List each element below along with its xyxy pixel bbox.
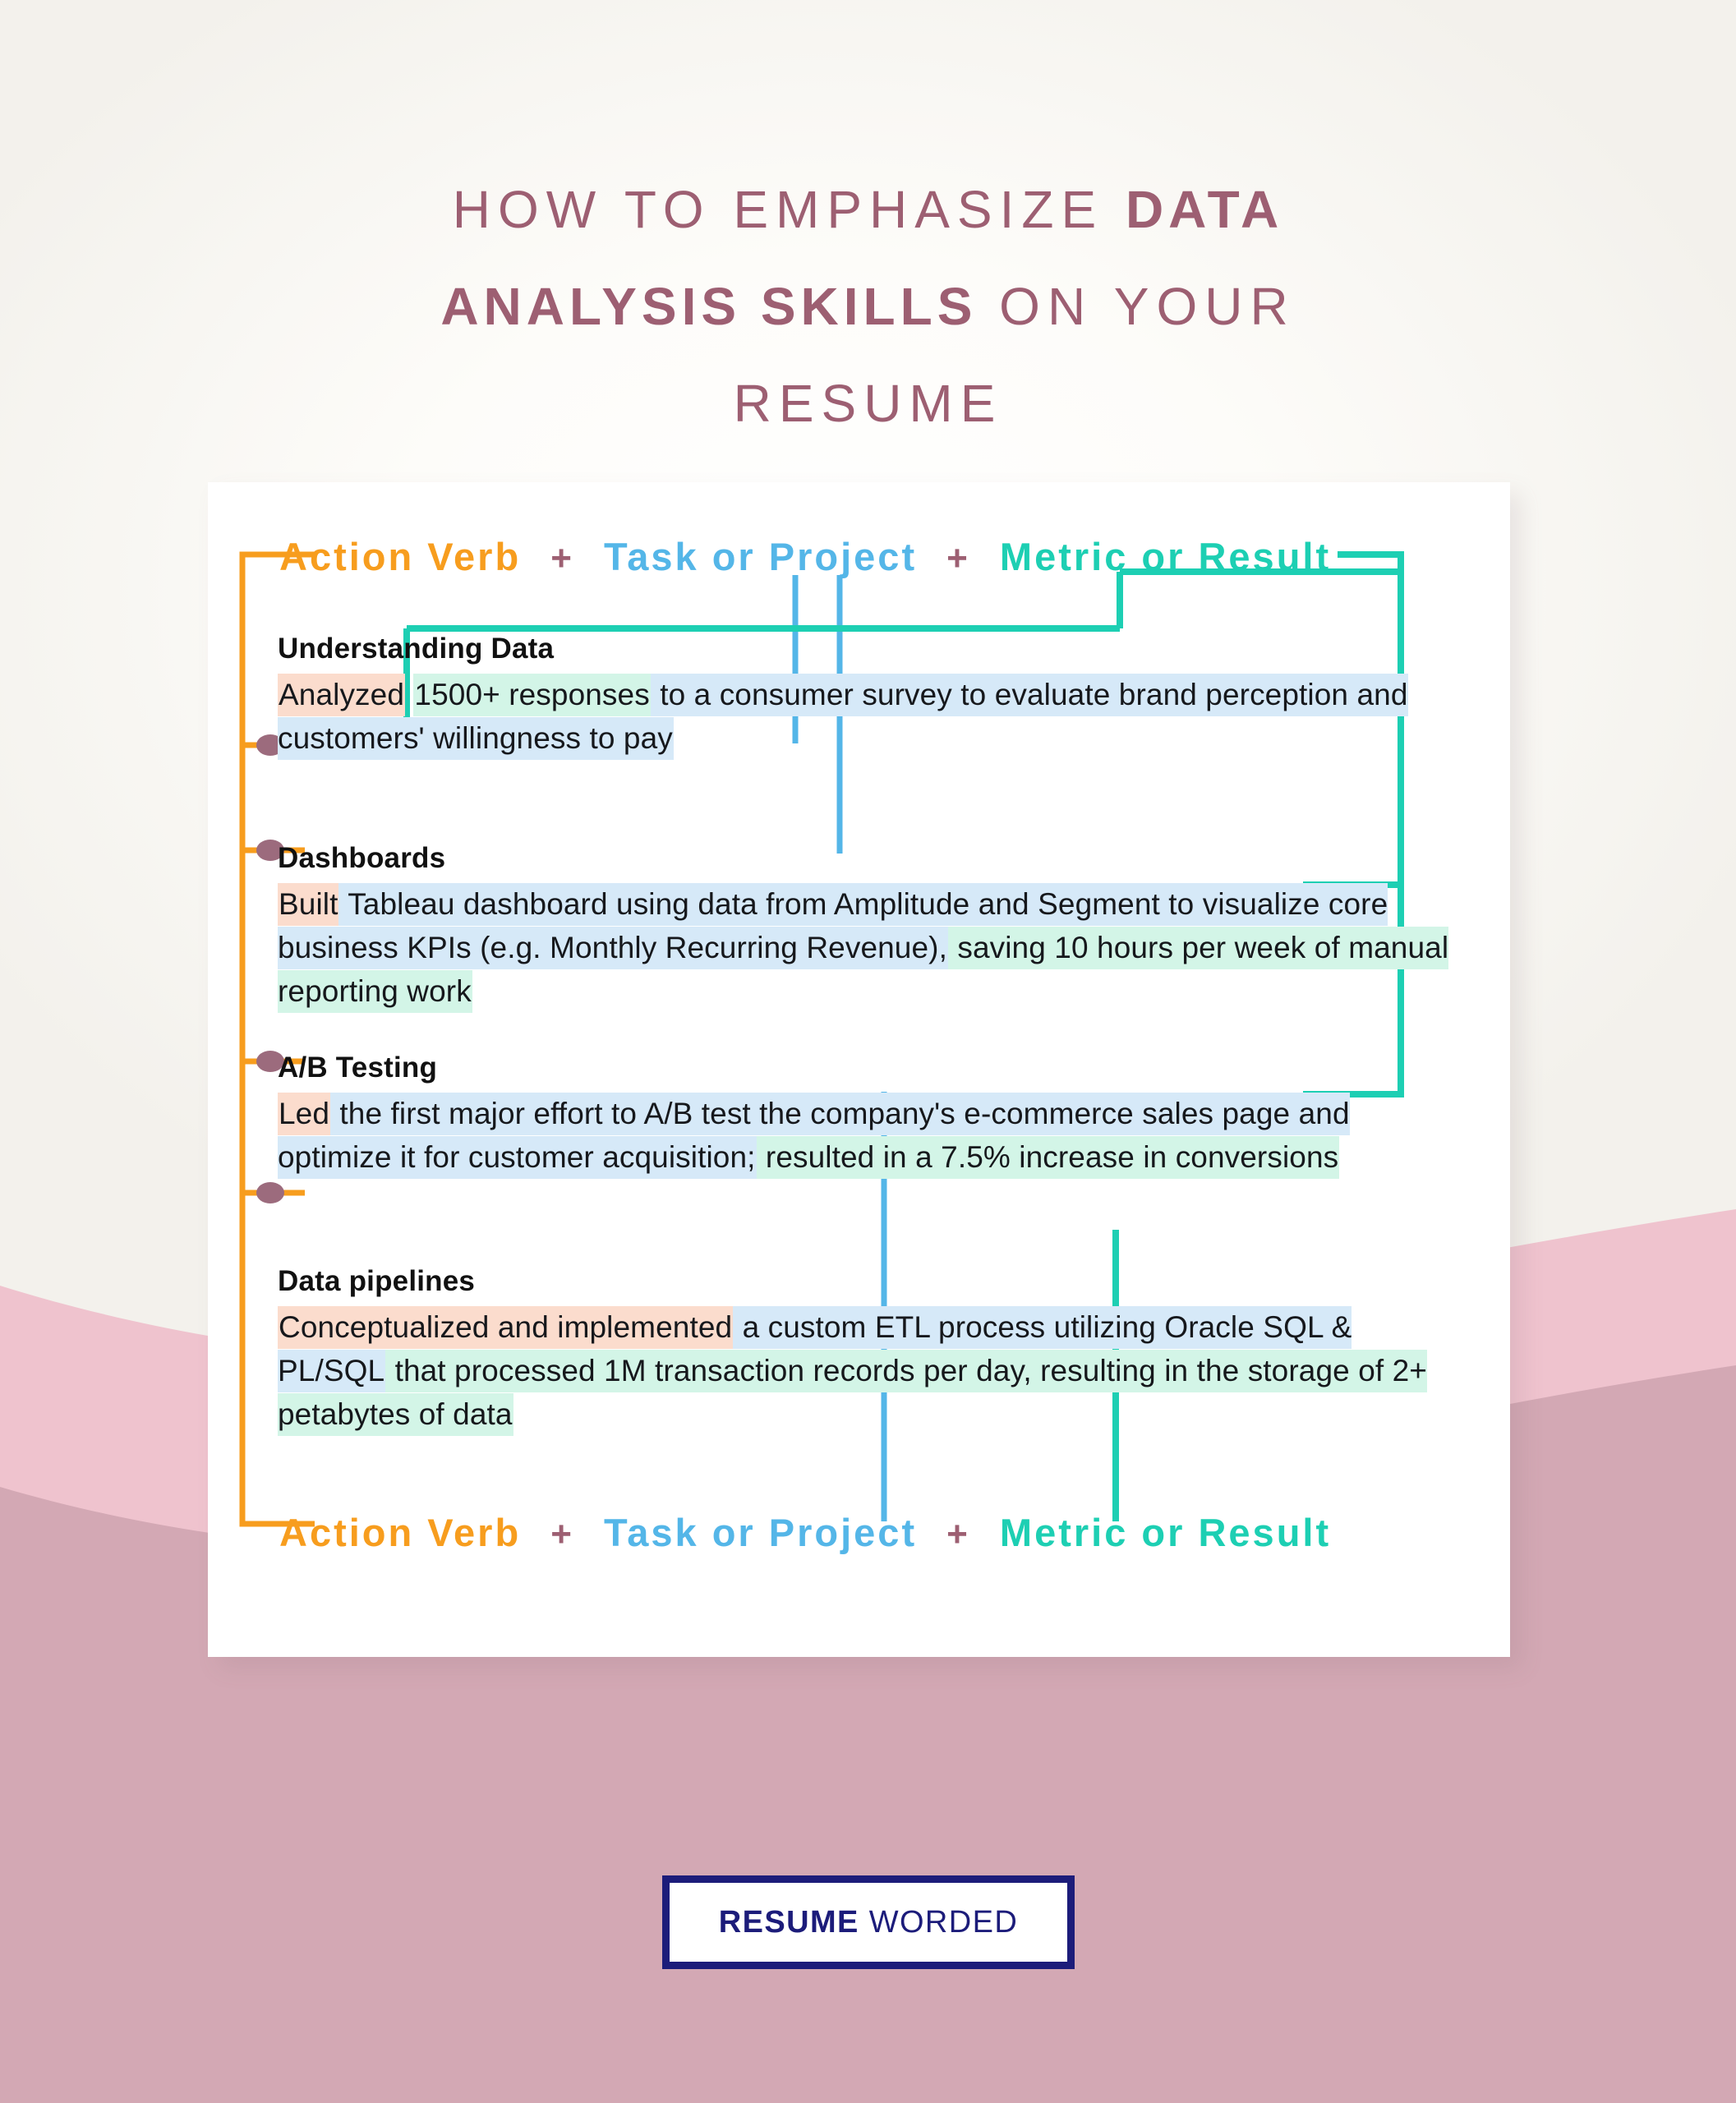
segment-verb: Led: [278, 1093, 330, 1135]
bullet-body: Analyzed 1500+ responses to a consumer s…: [278, 673, 1453, 760]
page-title-line-1-plain: HOW TO EMPHASIZE: [453, 180, 1126, 239]
bullet-block-dashboards: Dashboards Built Tableau dashboard using…: [278, 842, 1453, 1013]
formula-plus-2-top: +: [930, 538, 987, 578]
bullet-title: Dashboards: [278, 842, 1453, 875]
bullet-block-understanding-data: Understanding Data Analyzed 1500+ respon…: [278, 633, 1453, 760]
formula-footer: Action Verb + Task or Project + Metric o…: [279, 1510, 1331, 1555]
bullet-body: Conceptualized and implemented a custom …: [278, 1305, 1453, 1436]
segment-verb: Built: [278, 883, 338, 926]
logo-text: RESUME WORDED: [719, 1905, 1018, 1940]
formula-plus-2-bottom: +: [930, 1514, 987, 1554]
segment-none: [405, 678, 413, 711]
formula-action-verb-top: Action Verb: [279, 535, 521, 578]
formula-task-bottom: Task or Project: [604, 1511, 917, 1554]
bullet-body: Built Tableau dashboard using data from …: [278, 882, 1453, 1013]
page-title-line-2-plain: ON YOUR: [977, 277, 1295, 336]
page-title: HOW TO EMPHASIZE DATA ANALYSIS SKILLS ON…: [0, 161, 1736, 452]
formula-plus-1-bottom: +: [534, 1514, 591, 1554]
segment-metric: that processed 1M transaction records pe…: [278, 1350, 1427, 1436]
formula-action-verb-bottom: Action Verb: [279, 1511, 521, 1554]
formula-metric-top: Metric or Result: [1000, 535, 1331, 578]
segment-verb: Analyzed: [278, 674, 405, 716]
logo-text-light: WORDED: [859, 1905, 1018, 1940]
page-title-line-3: RESUME: [0, 355, 1736, 452]
segment-metric: 1500+ responses: [413, 674, 650, 716]
segment-metric: resulted in a 7.5% increase in conversio…: [757, 1136, 1340, 1179]
page-title-line-1: HOW TO EMPHASIZE DATA: [0, 161, 1736, 258]
bullet-title: A/B Testing: [278, 1051, 1453, 1084]
page-title-line-1-bold: DATA: [1126, 180, 1283, 239]
logo-text-strong: RESUME: [719, 1905, 859, 1940]
bullet-title: Understanding Data: [278, 633, 1453, 665]
page-title-line-2-bold: ANALYSIS SKILLS: [440, 277, 977, 336]
formula-header: Action Verb + Task or Project + Metric o…: [279, 534, 1331, 579]
resume-worded-logo[interactable]: RESUME WORDED: [662, 1875, 1075, 1969]
formula-task-top: Task or Project: [604, 535, 917, 578]
bullet-body: Led the first major effort to A/B test t…: [278, 1092, 1453, 1179]
formula-plus-1-top: +: [534, 538, 591, 578]
bullet-block-data-pipelines: Data pipelines Conceptualized and implem…: [278, 1265, 1453, 1436]
bullet-block-ab-testing: A/B Testing Led the first major effort t…: [278, 1051, 1453, 1179]
formula-metric-bottom: Metric or Result: [1000, 1511, 1331, 1554]
segment-verb: Conceptualized and implemented: [278, 1306, 733, 1349]
bullet-title: Data pipelines: [278, 1265, 1453, 1298]
page-title-line-2: ANALYSIS SKILLS ON YOUR: [0, 258, 1736, 355]
